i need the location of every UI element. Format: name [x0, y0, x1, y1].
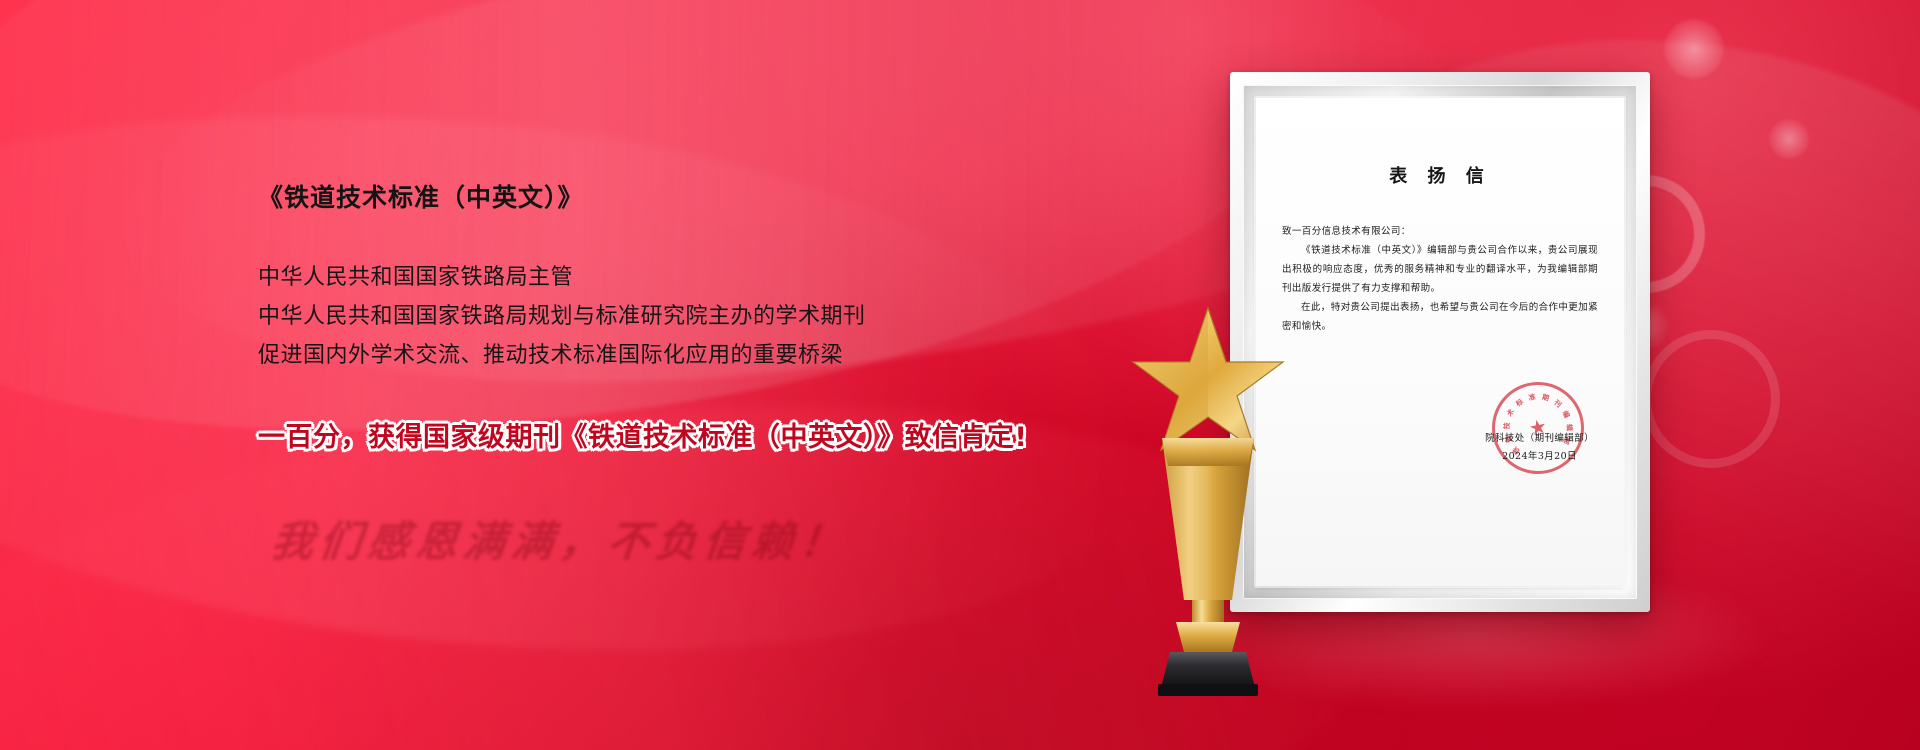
bokeh-circle: [1663, 18, 1725, 80]
certificate-paragraph-2: 在此，特对贵公司提出表扬，也希望与贵公司在今后的合作中更加紧密和愉快。: [1282, 298, 1598, 336]
certificate-frame: 表 扬 信 致一百分信息技术有限公司： 《铁道技术标准（中英文）》编辑部与贵公司…: [1230, 72, 1650, 612]
description-list: 中华人民共和国国家铁路局主管 中华人民共和国国家铁路局规划与标准研究院主办的学术…: [258, 258, 1098, 375]
certificate-paragraph-1: 《铁道技术标准（中英文）》编辑部与贵公司合作以来，贵公司展现出积极的响应态度，优…: [1282, 241, 1598, 298]
certificate-signature-block: 院科技处（期刊编辑部） 2024年3月20日: [1485, 430, 1594, 466]
certificate-paper: 表 扬 信 致一百分信息技术有限公司： 《铁道技术标准（中英文）》编辑部与贵公司…: [1256, 98, 1624, 586]
frame-outer: 表 扬 信 致一百分信息技术有限公司： 《铁道技术标准（中英文）》编辑部与贵公司…: [1230, 72, 1650, 612]
banner-copy: 《铁道技术标准（中英文）》 中华人民共和国国家铁路局主管 中华人民共和国国家铁路…: [258, 178, 1098, 567]
certificate-signature: 院科技处（期刊编辑部）: [1485, 430, 1594, 448]
bokeh-circle: [1768, 118, 1810, 160]
certificate-date: 2024年3月20日: [1485, 448, 1594, 466]
description-line-1: 中华人民共和国国家铁路局主管: [258, 258, 1098, 297]
description-line-3: 促进国内外学术交流、推动技术标准国际化应用的重要桥梁: [258, 336, 1098, 375]
bokeh-ring: [1642, 330, 1780, 468]
frame-inner: 表 扬 信 致一百分信息技术有限公司： 《铁道技术标准（中英文）》编辑部与贵公司…: [1256, 98, 1624, 586]
headline-text: 一百分，获得国家级期刊《铁道技术标准（中英文）》致信肯定!: [258, 415, 1098, 454]
trophy-icon: [1128, 300, 1288, 700]
certificate-title: 表 扬 信: [1282, 162, 1598, 188]
certificate-salutation: 致一百分信息技术有限公司：: [1282, 222, 1598, 241]
promo-banner: 《铁道技术标准（中英文）》 中华人民共和国国家铁路局主管 中华人民共和国国家铁路…: [0, 0, 1920, 750]
description-line-2: 中华人民共和国国家铁路局规划与标准研究院主办的学术期刊: [258, 297, 1098, 336]
slogan-text: 我们感恩满满，不负信赖！: [269, 506, 1101, 567]
journal-title: 《铁道技术标准（中英文）》: [258, 178, 1098, 214]
